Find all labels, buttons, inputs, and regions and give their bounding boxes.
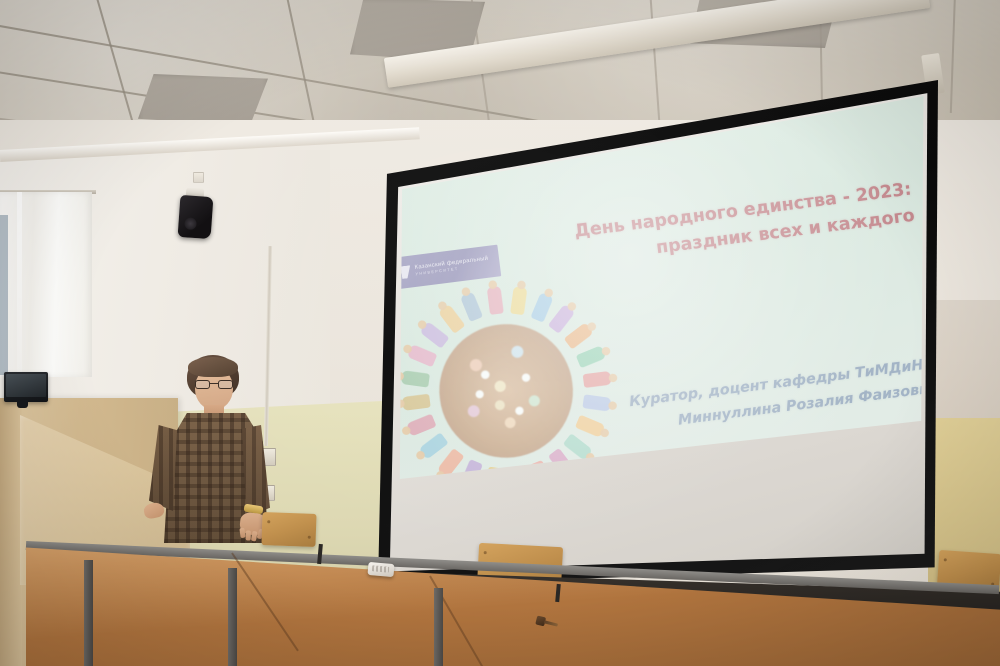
monitor-stand [17,400,28,408]
window-curtain[interactable] [0,192,92,377]
key-shaft [544,620,558,626]
child-figure [401,394,430,411]
finger [246,531,251,541]
glasses-bridge [210,383,218,384]
lens-right [218,380,233,389]
slide-title: День народного единства - 2023: праздник… [552,175,916,273]
wooden-chair[interactable] [261,512,316,547]
wall-speaker [178,195,214,239]
podium-side [0,398,22,666]
child-figure [510,286,527,315]
child-figure [460,291,483,322]
lens-left [195,380,210,389]
child-figure [582,371,611,388]
child-figure [548,304,576,334]
desk-leg [84,560,93,666]
child-figure [418,432,448,460]
finger [239,528,245,539]
light-switch[interactable] [193,172,204,183]
lecture-hall-photo: Казанский федеральный УНИВЕРСИТЕТ День н… [0,0,1000,666]
desk-leg [434,588,443,666]
presenter [150,355,278,555]
desk-leg [228,568,237,666]
child-figure [401,370,430,387]
child-figure [486,286,503,315]
presenter-hair-fringe [188,357,238,377]
child-figure [407,344,438,367]
podium-monitor[interactable] [4,372,48,402]
monitor-screen [6,374,46,397]
presentation-remote[interactable] [367,562,394,577]
presenter-arm-left [149,425,177,511]
child-figure [406,414,437,437]
window-frame [0,215,8,375]
logo-mark-icon [401,265,412,279]
child-figure [419,321,449,349]
speaker-cone-icon [184,217,197,230]
child-figure [564,322,594,350]
child-figure [437,303,465,333]
ceiling-light-panel [138,74,268,126]
child-figure [575,345,606,368]
child-figure [530,292,553,323]
eyeglasses-icon [195,380,233,389]
right-wall-upper [928,300,1000,425]
